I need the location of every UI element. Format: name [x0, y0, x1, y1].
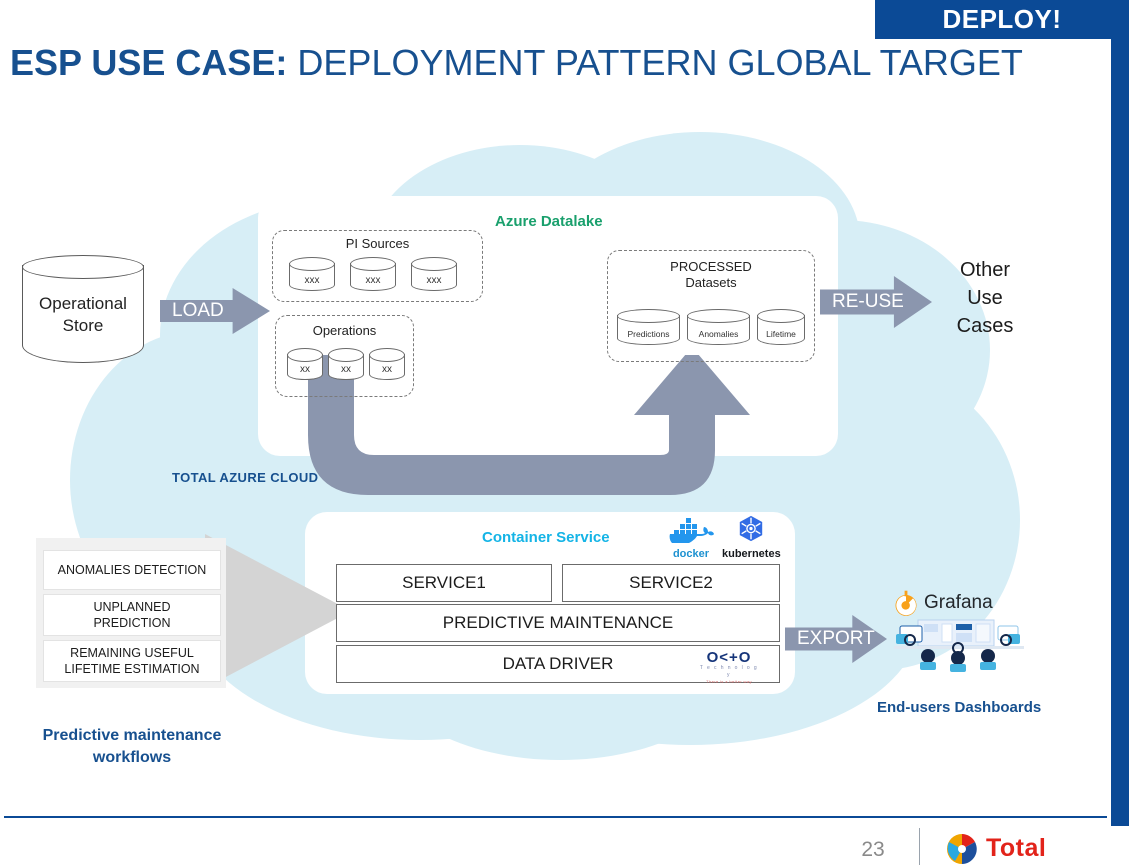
pi-source-cylinder-2: xxx: [350, 257, 396, 291]
docker-logo-label: docker: [662, 548, 720, 560]
page-title-rest: DEPLOYMENT PATTERN GLOBAL TARGET: [287, 42, 1023, 83]
total-logo-text: Total: [986, 834, 1046, 863]
pi-source-cylinder-3-label: xxx: [411, 275, 457, 286]
octo-logo-sub: T e c h n o l o g y: [698, 665, 760, 679]
slide-root: DEPLOY! ESP USE CASE: DEPLOYMENT PATTERN…: [0, 0, 1129, 865]
octo-logo-tagline: There is a better way: [698, 679, 760, 685]
processed-datasets-title: PROCESSED Datasets: [608, 259, 814, 291]
operations-cylinder-3-label: xx: [369, 364, 405, 375]
pi-sources-title: PI Sources: [273, 236, 482, 252]
workflow-item-2-line2: PREDICTION: [93, 616, 170, 630]
pi-source-cylinder-3: xxx: [411, 257, 457, 291]
reuse-arrow-label: RE-USE: [820, 291, 904, 313]
workflow-item-3-line2: LIFETIME ESTIMATION: [64, 662, 199, 676]
load-arrow-label: LOAD: [160, 300, 224, 322]
other-use-cases-line2: Use: [930, 284, 1040, 312]
operations-title: Operations: [276, 323, 413, 339]
docker-whale-icon: [668, 515, 714, 543]
operations-cylinder-2-label: xx: [328, 364, 364, 375]
workflow-item-3-line1: REMAINING USEFUL: [70, 646, 194, 660]
operations-cylinder-1: xx: [287, 348, 323, 380]
pi-source-cylinder-1-label: xxx: [289, 275, 335, 286]
footer-vertical-divider: [919, 828, 920, 865]
footer-divider: [4, 816, 1107, 818]
processed-cylinder-lifetime: Lifetime: [757, 309, 805, 345]
cylinder-top: [287, 348, 323, 362]
processed-cylinder-anomalies: Anomalies: [687, 309, 750, 345]
operations-cylinder-1-label: xx: [287, 364, 323, 375]
service2-box[interactable]: SERVICE2: [562, 564, 780, 602]
data-driver-line2: COMPUTATION: [428, 427, 580, 449]
pi-source-cylinder-2-label: xxx: [350, 275, 396, 286]
service1-box[interactable]: SERVICE1: [336, 564, 552, 602]
cylinder-top: [22, 255, 144, 279]
predictive-maintenance-label: PREDICTIVE MAINTENANCE: [443, 613, 673, 633]
operations-group: Operations xx xx xx: [275, 315, 414, 397]
workflows-caption-line1: Predictive maintenance: [42, 725, 222, 747]
processed-cylinder-predictions: Predictions: [617, 309, 680, 345]
workflow-item-anomalies-detection[interactable]: ANOMALIES DETECTION: [43, 550, 221, 590]
workflow-item-2-label: UNPLANNED PREDICTION: [93, 599, 170, 631]
workflow-item-2-line1: UNPLANNED: [93, 600, 170, 614]
cylinder-top: [328, 348, 364, 362]
export-arrow: EXPORT: [785, 615, 887, 663]
workflows-caption-line2: workflows: [42, 747, 222, 769]
page-title: ESP USE CASE: DEPLOYMENT PATTERN GLOBAL …: [10, 40, 1070, 86]
pi-source-cylinder-1: xxx: [289, 257, 335, 291]
dashboard-people-illustration: [880, 614, 1040, 672]
grafana-dashboard-illustration: Grafana: [880, 592, 1040, 670]
workflows-caption: Predictive maintenance workflows: [42, 725, 222, 769]
kubernetes-logo: kubernetes: [722, 515, 780, 560]
page-number: 23: [845, 838, 901, 862]
end-users-dashboards-label: End-users Dashboards: [877, 699, 1041, 716]
reuse-arrow: RE-USE: [820, 276, 932, 328]
predictive-maintenance-workflows-panel: ANOMALIES DETECTION UNPLANNED PREDICTION…: [36, 538, 226, 688]
processed-datasets-group: PROCESSED Datasets Predictions Anomalies…: [607, 250, 815, 362]
kubernetes-helm-icon: [736, 515, 766, 543]
operational-store-cylinder: Operational Store: [22, 255, 144, 363]
octo-technology-logo: O<+O T e c h n o l o g y There is a bett…: [698, 650, 760, 676]
right-blue-bar: [1111, 39, 1129, 826]
workflow-item-remaining-useful-lifetime[interactable]: REMAINING USEFUL LIFETIME ESTIMATION: [43, 640, 221, 682]
total-logo: Total: [946, 832, 1046, 865]
operations-cylinder-2: xx: [328, 348, 364, 380]
page-title-strong: ESP USE CASE:: [10, 42, 287, 83]
other-use-cases-label: Other Use Cases: [930, 256, 1040, 340]
total-azure-cloud-label: TOTAL AZURE CLOUD: [172, 470, 318, 485]
docker-logo: docker: [662, 515, 720, 560]
processed-datasets-line1: PROCESSED: [608, 259, 814, 275]
operational-store-label: Operational Store: [22, 293, 144, 337]
data-driver-label: DATA DRIVER COMPUTATION: [428, 405, 580, 449]
octo-logo-mark: O<+O: [698, 650, 760, 665]
kubernetes-logo-label: kubernetes: [722, 548, 780, 560]
other-use-cases-line3: Cases: [930, 312, 1040, 340]
deploy-banner: DEPLOY!: [875, 0, 1129, 39]
workflow-item-3-label: REMAINING USEFUL LIFETIME ESTIMATION: [64, 645, 199, 677]
cylinder-top: [757, 309, 805, 323]
data-driver-line1: DATA DRIVER: [428, 405, 580, 427]
total-mark-icon: [946, 833, 980, 865]
cylinder-top: [369, 348, 405, 362]
azure-datalake-label: Azure Datalake: [495, 213, 603, 230]
data-driver-box-label: DATA DRIVER: [503, 654, 614, 674]
workflow-item-unplanned-prediction[interactable]: UNPLANNED PREDICTION: [43, 594, 221, 636]
container-service-label: Container Service: [482, 529, 610, 546]
operations-cylinder-3: xx: [369, 348, 405, 380]
export-arrow-label: EXPORT: [785, 628, 875, 650]
other-use-cases-line1: Other: [930, 256, 1040, 284]
cylinder-top: [350, 257, 396, 271]
predictive-maintenance-box[interactable]: PREDICTIVE MAINTENANCE: [336, 604, 780, 642]
pi-sources-group: PI Sources xxx xxx xxx: [272, 230, 483, 302]
cylinder-top: [617, 309, 680, 323]
processed-cylinder-predictions-label: Predictions: [617, 329, 680, 339]
deploy-banner-label: DEPLOY!: [942, 4, 1061, 35]
grafana-logo-label: Grafana: [924, 592, 993, 614]
cylinder-top: [411, 257, 457, 271]
cylinder-top: [687, 309, 750, 323]
cylinder-top: [289, 257, 335, 271]
container-runtime-logos: docker kubernetes: [662, 515, 780, 561]
service2-label: SERVICE2: [629, 573, 713, 593]
load-arrow: LOAD: [160, 288, 270, 334]
processed-cylinder-anomalies-label: Anomalies: [687, 329, 750, 339]
service1-label: SERVICE1: [402, 573, 486, 593]
processed-cylinder-lifetime-label: Lifetime: [757, 329, 805, 339]
workflow-item-1-label: ANOMALIES DETECTION: [58, 562, 207, 578]
processed-datasets-line2: Datasets: [608, 275, 814, 291]
operational-store-line1: Operational: [22, 293, 144, 315]
operational-store-line2: Store: [22, 315, 144, 337]
